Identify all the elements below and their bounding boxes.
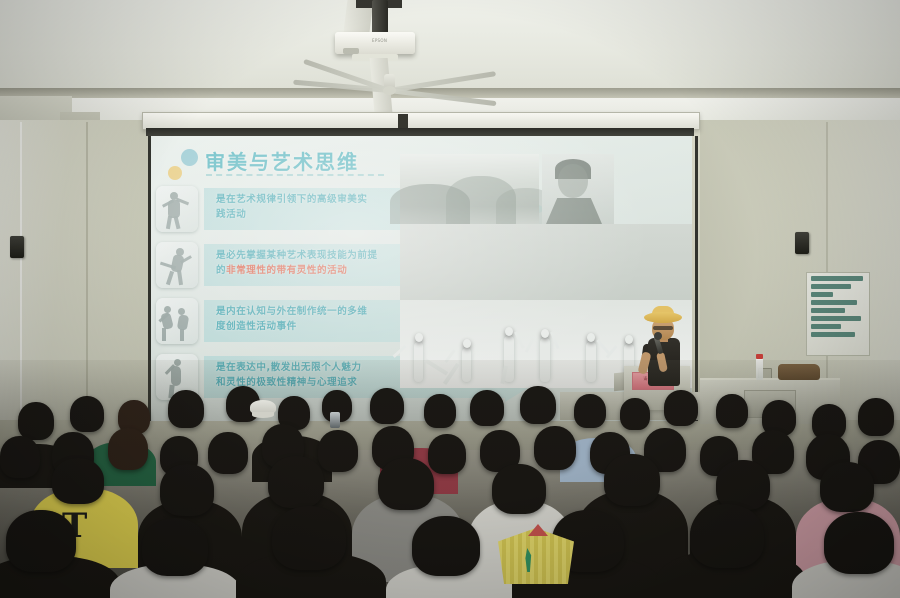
- audience-head: [108, 428, 148, 470]
- audience-head: [18, 402, 54, 440]
- audience-head: [168, 390, 204, 428]
- wall-speaker: [10, 236, 24, 258]
- audience-head: [318, 430, 358, 472]
- notice-line: [811, 276, 863, 281]
- audience-head: [664, 390, 698, 426]
- audience-head: [620, 398, 650, 430]
- notice-line: [811, 332, 855, 337]
- glasses-icon: [653, 326, 673, 330]
- audience-head: [716, 460, 770, 510]
- audience-head: [142, 518, 208, 576]
- audience-head: [574, 394, 606, 428]
- projector-brand-label: EPSON: [372, 38, 387, 43]
- audience-head: [370, 388, 404, 424]
- audience-head: [534, 426, 576, 470]
- lecture-hall-photo: EPSON 审美与艺术思维: [0, 0, 900, 598]
- audience-head: [428, 434, 466, 474]
- audience-head: [70, 396, 104, 432]
- audience-head: [208, 432, 248, 474]
- straw-hat: [644, 312, 682, 323]
- microphone-head: [654, 332, 662, 340]
- audience-head: [0, 436, 40, 478]
- audience-head: [520, 386, 556, 424]
- audience-head: [716, 394, 748, 428]
- wall-speaker: [795, 232, 809, 254]
- audience-head: [824, 512, 894, 574]
- audience-head: [272, 506, 346, 570]
- audience-head: [412, 516, 480, 576]
- audience-head: [820, 462, 874, 512]
- audience-head: [690, 504, 764, 568]
- projector-mount: [372, 0, 388, 34]
- green-notice-board: [806, 272, 870, 356]
- audience-head: [160, 464, 214, 516]
- notice-line: [811, 292, 833, 297]
- notice-line: [811, 324, 841, 329]
- raised-phone: [330, 412, 340, 428]
- notice-line: [811, 308, 845, 313]
- audience: T: [0, 360, 900, 598]
- audience-head: [424, 394, 456, 428]
- audience-head: [378, 458, 434, 510]
- audience-head: [470, 390, 504, 426]
- audience-head: [52, 458, 104, 504]
- notice-line: [811, 300, 857, 305]
- fan-hub: [383, 86, 396, 95]
- audience-head: [492, 464, 546, 514]
- notice-line: [811, 316, 861, 321]
- cap-brim: [252, 412, 274, 418]
- audience-head: [604, 454, 660, 506]
- screen-top-bar: [146, 128, 694, 136]
- bottle-cap: [756, 354, 763, 359]
- notice-line: [811, 284, 851, 289]
- audience-head: [6, 510, 76, 572]
- audience-head: [858, 398, 894, 436]
- audience-head: [268, 456, 324, 508]
